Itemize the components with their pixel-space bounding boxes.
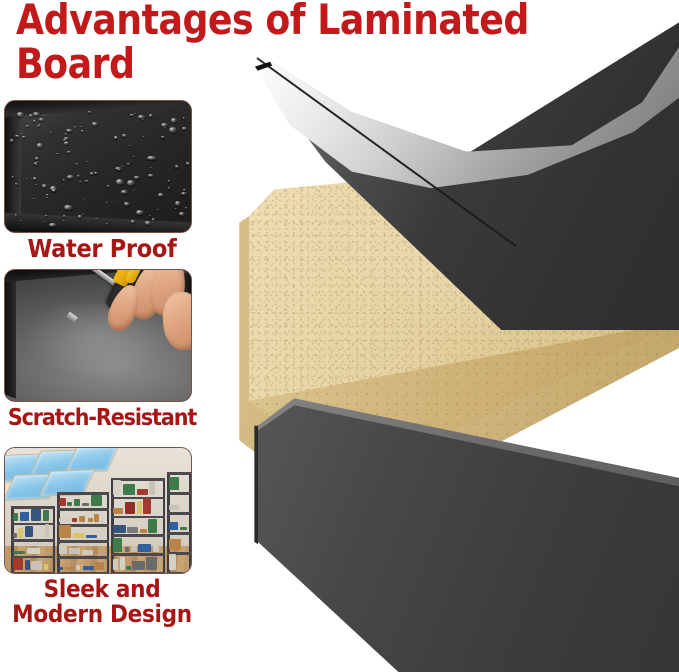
stored-item: [73, 533, 85, 539]
shelf-deck: [57, 508, 109, 511]
shelf-deck: [111, 553, 165, 556]
shelf-deck: [57, 492, 109, 495]
water-droplet: [79, 181, 82, 182]
water-droplet: [171, 118, 178, 123]
stored-item: [149, 481, 155, 495]
shelf-deck: [11, 572, 55, 573]
water-droplet: [38, 124, 40, 125]
water-droplet: [175, 201, 181, 206]
water-droplet: [85, 180, 88, 182]
stored-item: [143, 498, 151, 514]
shelf-post: [163, 478, 166, 572]
water-droplet: [52, 189, 55, 191]
stored-item: [59, 518, 71, 522]
stored-item: [146, 557, 157, 571]
water-droplet: [161, 136, 166, 138]
water-droplet: [81, 130, 84, 132]
water-droplet: [130, 114, 135, 116]
stored-item: [95, 562, 104, 571]
stored-item: [169, 477, 179, 490]
feature-caption-sleek-modern-design: Sleek and Modern Design: [4, 577, 200, 627]
shelf-deck: [111, 534, 165, 537]
stored-item: [123, 484, 135, 495]
water-droplet: [148, 174, 154, 177]
water-droplet: [129, 145, 131, 147]
stored-item: [169, 539, 181, 550]
stored-item: [91, 495, 103, 506]
shelving-unit: [167, 472, 191, 572]
water-droplet: [21, 133, 23, 134]
stored-item: [25, 526, 34, 538]
shelf-deck: [57, 540, 109, 543]
stored-item: [169, 554, 176, 570]
water-droplet: [43, 221, 45, 222]
shelf-deck: [57, 572, 109, 573]
stored-item: [113, 525, 126, 533]
stored-item: [45, 524, 49, 538]
stored-item: [25, 560, 30, 570]
water-proof-thumbnail: [4, 100, 192, 233]
shelving-unit: [57, 492, 109, 572]
stored-item: [59, 498, 66, 507]
stored-item: [140, 529, 147, 533]
water-droplet: [121, 190, 128, 194]
stored-item: [67, 502, 72, 507]
stored-item: [180, 527, 187, 530]
stored-item: [169, 522, 178, 530]
stored-item: [59, 525, 71, 539]
stored-item: [13, 558, 23, 571]
stored-item: [59, 567, 63, 570]
stored-item: [94, 514, 99, 522]
feature-card-scratch-resistant: Scratch-Resistant: [4, 269, 200, 431]
stored-item: [113, 508, 123, 514]
water-droplet: [116, 179, 124, 185]
infographic-canvas: Advantages of Laminated Board Water Proo…: [0, 0, 679, 672]
water-droplet: [22, 136, 26, 138]
water-droplet: [42, 184, 47, 188]
water-droplet: [39, 118, 45, 121]
stored-item: [13, 513, 18, 521]
stored-item: [79, 516, 86, 522]
stored-item: [138, 544, 151, 552]
stored-item: [43, 510, 49, 522]
stored-item: [65, 567, 75, 570]
stored-item: [31, 509, 41, 521]
water-droplet: [63, 179, 66, 180]
feature-card-sleek-modern-design: Sleek and Modern Design: [4, 447, 200, 627]
water-droplet: [46, 194, 49, 196]
stored-item: [72, 518, 77, 522]
water-droplet: [127, 163, 130, 165]
water-droplet: [142, 119, 144, 120]
water-droplet: [45, 215, 48, 217]
stored-item: [83, 566, 94, 570]
water-droplet: [107, 185, 110, 187]
stored-item: [18, 528, 23, 538]
water-droplet: [67, 151, 71, 153]
stored-item: [13, 533, 17, 538]
water-droplet: [106, 223, 108, 224]
shelf-post: [107, 492, 110, 572]
shelf-deck: [111, 572, 165, 573]
panel-left-edge: [4, 274, 16, 399]
water-droplet: [186, 162, 190, 164]
scratch-resistant-thumbnail: [4, 269, 192, 402]
water-droplet: [33, 112, 40, 116]
water-droplet: [94, 172, 98, 174]
stored-item: [126, 566, 131, 571]
water-droplet: [10, 139, 14, 142]
water-droplet: [64, 205, 73, 211]
stored-item: [31, 561, 42, 571]
water-droplet: [15, 183, 17, 185]
shelf-deck: [167, 572, 191, 573]
water-droplet: [138, 115, 145, 119]
stored-item: [113, 480, 121, 496]
stored-item: [125, 547, 130, 552]
water-droplet: [134, 176, 140, 180]
stored-item: [20, 512, 28, 521]
stored-item: [69, 548, 80, 555]
stored-item: [82, 503, 89, 507]
stored-item: [74, 499, 80, 507]
water-droplet: [158, 193, 164, 197]
water-droplet: [133, 190, 135, 191]
stored-item: [13, 551, 25, 554]
stored-item: [137, 489, 148, 496]
shelving-unit: [111, 478, 165, 572]
stored-item: [44, 564, 48, 571]
water-droplet: [182, 127, 187, 130]
water-droplet: [174, 167, 176, 168]
stored-item: [131, 546, 137, 552]
feature-caption-scratch-resistant: Scratch-Resistant: [4, 405, 200, 431]
shelf-post: [189, 472, 192, 572]
shelf-deck: [167, 472, 191, 475]
stored-item: [76, 565, 80, 570]
page-title: Advantages of Laminated Board: [16, 0, 630, 86]
water-droplet: [15, 135, 20, 138]
water-droplet: [15, 214, 18, 216]
shelf-deck: [11, 539, 55, 542]
water-droplet: [35, 157, 40, 160]
shelf-deck: [111, 497, 165, 500]
shelf-deck: [111, 516, 165, 519]
stored-item: [153, 545, 159, 552]
stored-item: [113, 559, 118, 570]
shelf-deck: [167, 492, 191, 495]
stored-item: [120, 557, 125, 570]
water-droplet: [88, 111, 91, 113]
stored-item: [148, 519, 157, 533]
shelf-deck: [57, 556, 109, 559]
laminated-board-hero-image: [185, 0, 679, 672]
sleek-modern-design-thumbnail: [4, 447, 192, 574]
stored-item: [27, 548, 40, 554]
stored-item: [86, 535, 97, 538]
water-droplet: [17, 112, 25, 117]
water-droplet: [20, 220, 22, 221]
storage-room-scene: [5, 448, 191, 573]
stored-item: [127, 527, 138, 533]
feature-card-water-proof: Water Proof: [4, 100, 200, 262]
stored-item: [125, 502, 135, 514]
water-droplet: [168, 180, 170, 181]
water-droplet: [121, 166, 123, 167]
stored-item: [137, 501, 142, 514]
shelf-deck: [167, 532, 191, 535]
water-droplet: [147, 156, 157, 161]
water-droplet: [131, 220, 136, 223]
stored-item: [59, 544, 67, 555]
water-droplet: [34, 162, 38, 165]
feature-caption-water-proof: Water Proof: [4, 236, 200, 262]
stored-item: [113, 538, 122, 552]
water-droplet: [122, 134, 127, 137]
water-droplet: [78, 215, 83, 218]
water-droplet: [164, 127, 166, 128]
stored-item: [88, 518, 94, 522]
shelf-deck: [167, 512, 191, 515]
stored-item: [169, 505, 179, 511]
stored-item: [36, 532, 43, 537]
shelving-unit: [11, 506, 55, 572]
stored-item: [82, 550, 93, 555]
water-droplet: [76, 163, 78, 164]
hand-holding-tool: [89, 269, 192, 354]
water-droplet: [33, 120, 36, 122]
stored-item: [132, 561, 144, 571]
